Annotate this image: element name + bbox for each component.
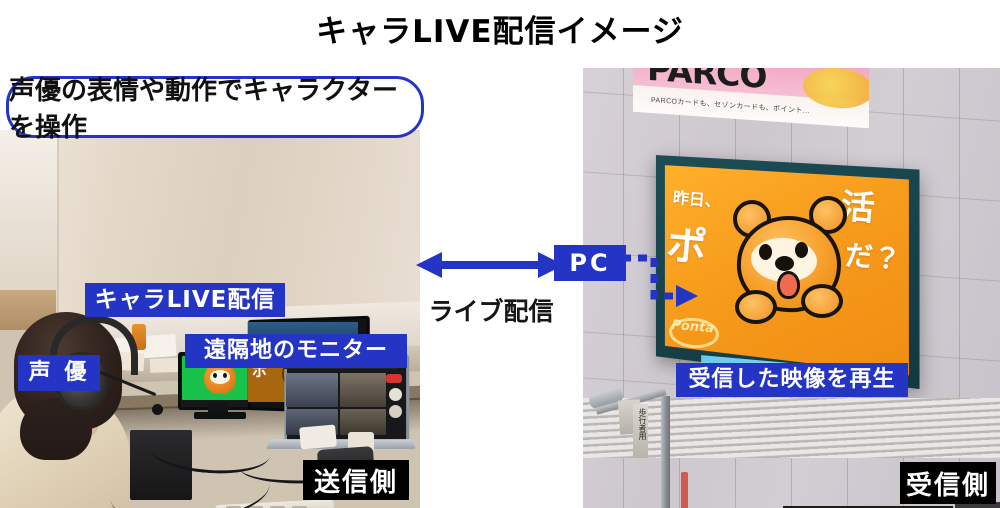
participant-avatar	[389, 388, 402, 401]
label-sender-side: 送信側	[303, 460, 409, 500]
monitor-base	[194, 412, 246, 419]
billboard-bear-eye	[759, 244, 772, 260]
parco-wordmark: PARCO	[647, 68, 766, 96]
billboard-bear-mouth	[777, 271, 800, 299]
microphone-capsule	[152, 404, 163, 415]
billboard-bear-paw	[735, 290, 777, 324]
label-receiver-side: 受信側	[900, 462, 996, 504]
billboard-bear-eye	[795, 242, 808, 258]
participant-avatar	[389, 405, 402, 418]
callout-box: 声優の表情や動作でキャラクターを操作	[6, 76, 424, 138]
billboard-bear-nose	[775, 256, 794, 271]
parco-banner-subtext: PARCOカードも、セゾンカードも、ポイント...	[651, 95, 810, 116]
label-play-received-video: 受信した映像を再生	[676, 363, 908, 397]
page-title: キャラLIVE配信イメージ	[0, 6, 1000, 51]
video-tile	[340, 373, 386, 407]
label-voice-actor: 声 優	[18, 355, 100, 391]
pc-node: PC	[554, 245, 626, 281]
wall-seam	[57, 130, 59, 320]
ponta-logo: Ponta	[670, 318, 726, 345]
pedestrian-sign-text: 歩行者用	[635, 408, 647, 440]
studio-photo: 昨日、 ポ 活 した?	[0, 130, 420, 508]
character-eye	[213, 373, 217, 378]
billboard-text-kinou: 昨日、	[672, 184, 722, 212]
red-bollard	[681, 472, 688, 508]
live-stream-label: ライブ配信	[416, 292, 566, 328]
diagram-stage: キャラLIVE配信イメージ	[0, 0, 1000, 508]
character-eye	[223, 373, 227, 378]
billboard-bear-paw	[801, 284, 843, 318]
video-tile	[286, 373, 338, 407]
billboard-text-dat: だ？	[843, 234, 902, 279]
dashed-elbow-arrow-icon	[620, 248, 700, 310]
banner-splash-graphic	[803, 68, 869, 111]
label-remote-monitor: 遠隔地のモニター	[185, 334, 407, 368]
label-chara-live: キャラLIVE配信	[85, 283, 285, 317]
traffic-pole	[661, 396, 670, 508]
double-headed-arrow-icon	[416, 250, 564, 280]
end-call-button	[386, 374, 402, 383]
